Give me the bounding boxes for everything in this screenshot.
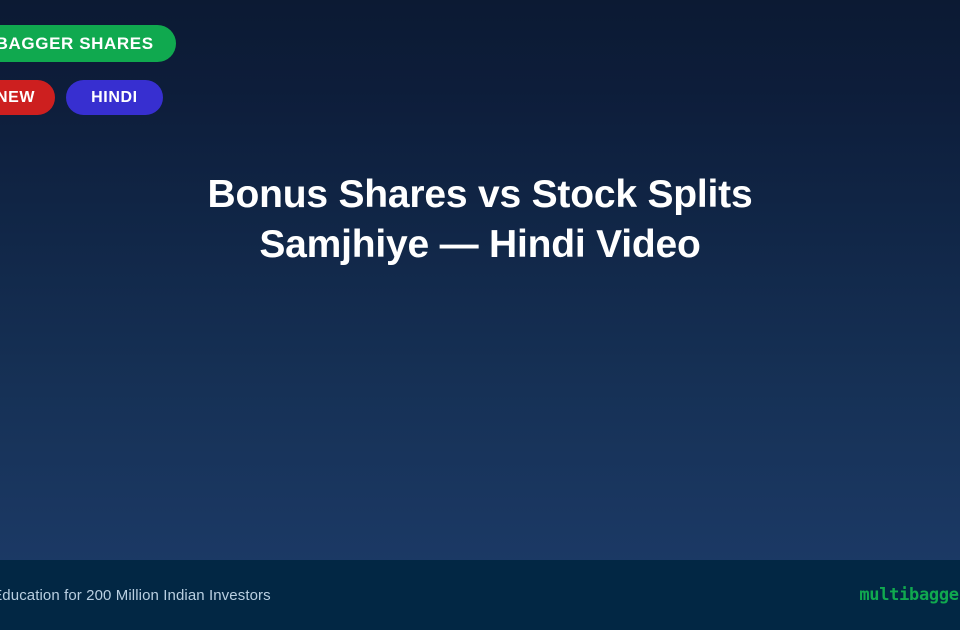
primary-badge-row: MULTIBAGGER SHARES xyxy=(0,25,176,62)
page-title: Bonus Shares vs Stock Splits Samjhiye — … xyxy=(0,170,960,270)
title-line-2: Samjhiye — Hindi Video xyxy=(70,220,890,270)
secondary-badge-row: NEW HINDI xyxy=(0,80,163,115)
title-line-1: Bonus Shares vs Stock Splits xyxy=(70,170,890,220)
footer-website[interactable]: multibaggershares.com xyxy=(859,585,960,605)
language-badge[interactable]: HINDI xyxy=(66,80,163,115)
footer-bar: Investing Education for 200 Million Indi… xyxy=(0,560,960,630)
category-badge[interactable]: MULTIBAGGER SHARES xyxy=(0,25,176,62)
footer-tagline: Investing Education for 200 Million Indi… xyxy=(0,587,271,604)
tag-badge[interactable]: NEW xyxy=(0,80,55,115)
video-thumbnail-card: MULTIBAGGER SHARES NEW HINDI Bonus Share… xyxy=(0,0,960,630)
